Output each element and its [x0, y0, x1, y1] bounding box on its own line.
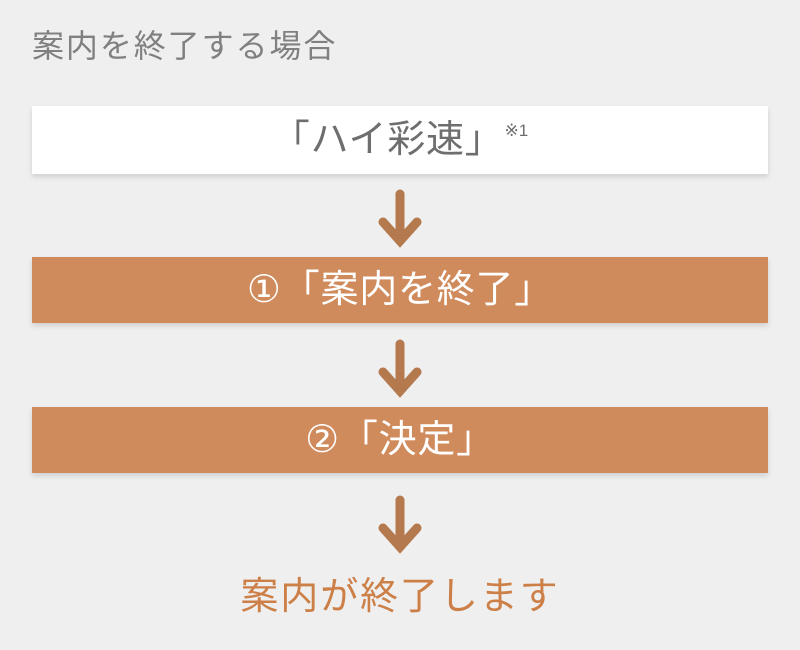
flow-arrow-2 — [0, 338, 800, 400]
down-arrow-icon — [375, 188, 425, 250]
flow-result-text: 案内が終了します — [0, 573, 800, 621]
step-bar-2-label: ②「決定」 — [305, 421, 495, 459]
page-title: 案内を終了する場合 — [32, 26, 337, 66]
down-arrow-icon — [375, 338, 425, 400]
source-bar-label: 「ハイ彩速」※1 — [272, 121, 529, 159]
step-bar-1-label: ①「案内を終了」 — [247, 271, 553, 309]
footnote-marker: ※1 — [505, 121, 529, 140]
flow-arrow-3 — [0, 494, 800, 556]
flow-arrow-1 — [0, 188, 800, 250]
step-bar-1[interactable]: ①「案内を終了」 — [32, 257, 768, 323]
flowchart-container: 案内を終了する場合 「ハイ彩速」※1 ①「案内を終了」 ②「決定」 案内が終 — [0, 0, 800, 650]
source-bar-text: 「ハイ彩速」 — [272, 119, 504, 161]
source-bar: 「ハイ彩速」※1 — [32, 106, 768, 174]
down-arrow-icon — [375, 494, 425, 556]
step-bar-2[interactable]: ②「決定」 — [32, 407, 768, 473]
